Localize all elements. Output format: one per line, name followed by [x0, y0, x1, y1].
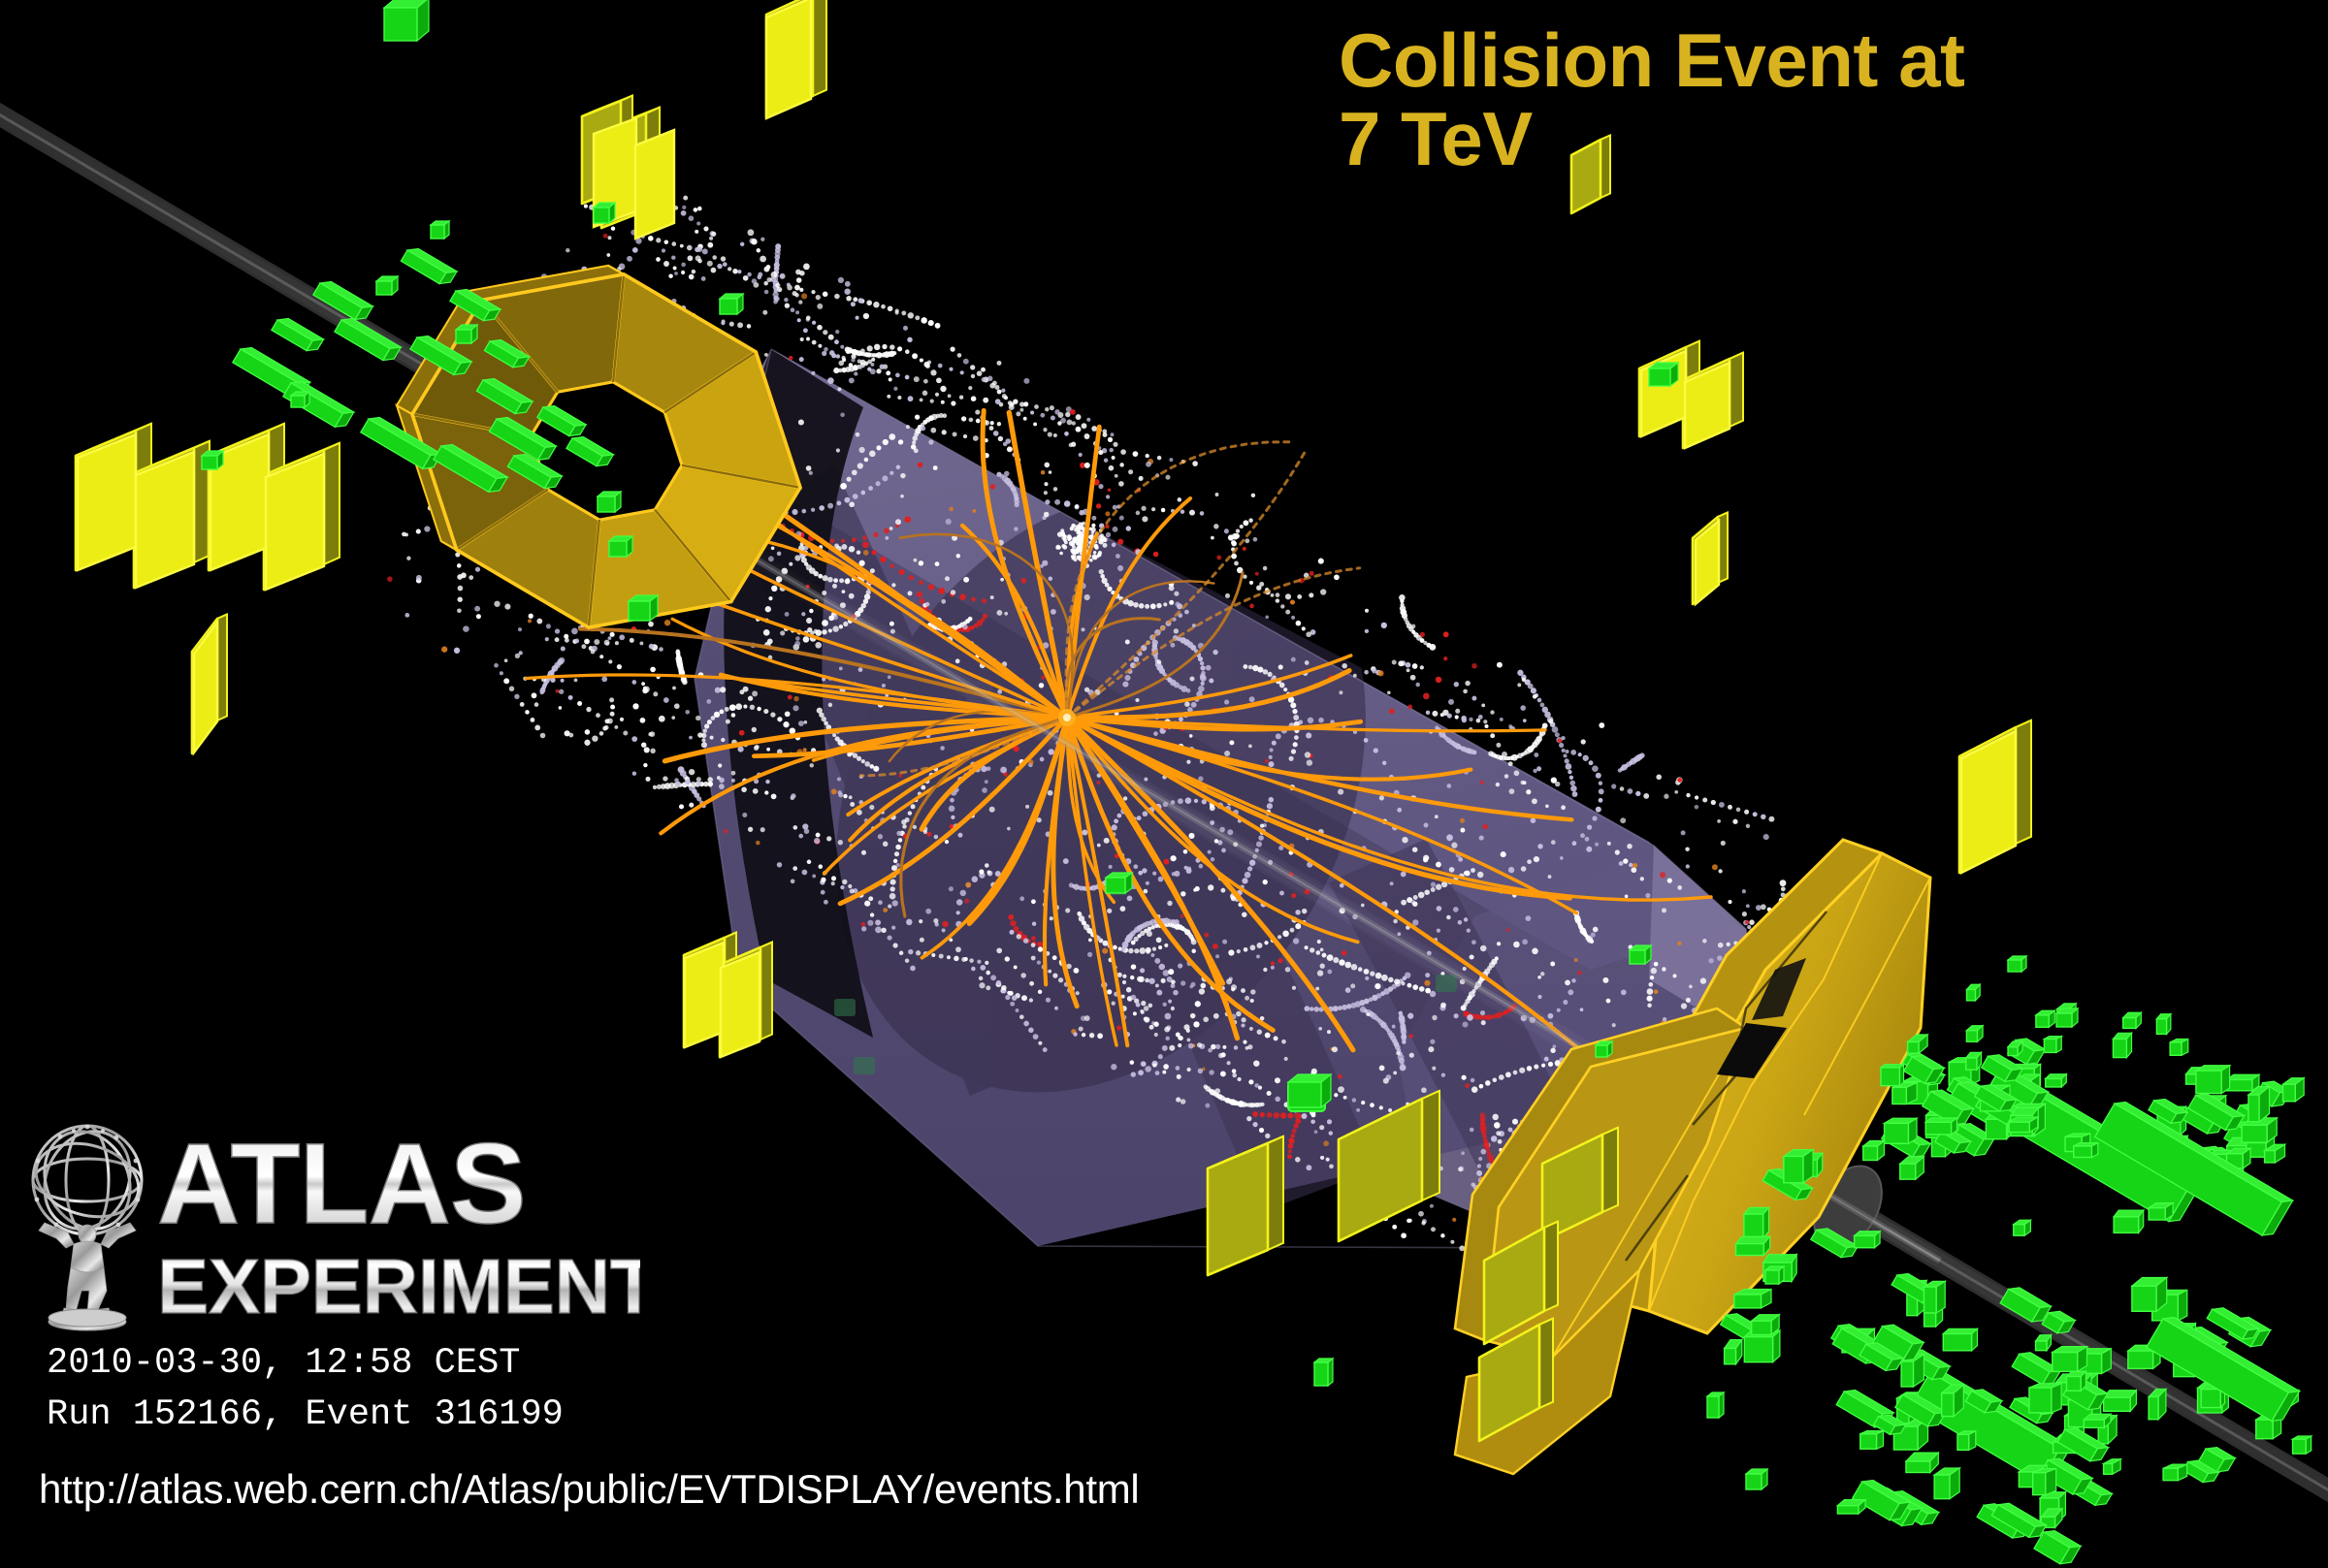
atlas-logo: ATLAS EXPERIMENT: [10, 1110, 650, 1353]
atlas-url-link[interactable]: http://atlas.web.cern.ch/Atlas/public/EV…: [39, 1466, 1139, 1513]
logo-experiment-text: EXPERIMENT: [157, 1243, 640, 1329]
event-caption: 2010-03-30, 12:58 CEST Run 152166, Event…: [47, 1338, 564, 1440]
atlas-event-display: Collision Event at 7 TeV: [0, 0, 2328, 1568]
atlas-statue-icon: [10, 1110, 165, 1333]
logo-atlas-text: ATLAS: [157, 1120, 526, 1248]
atlas-wordmark: ATLAS EXPERIMENT: [155, 1114, 640, 1337]
